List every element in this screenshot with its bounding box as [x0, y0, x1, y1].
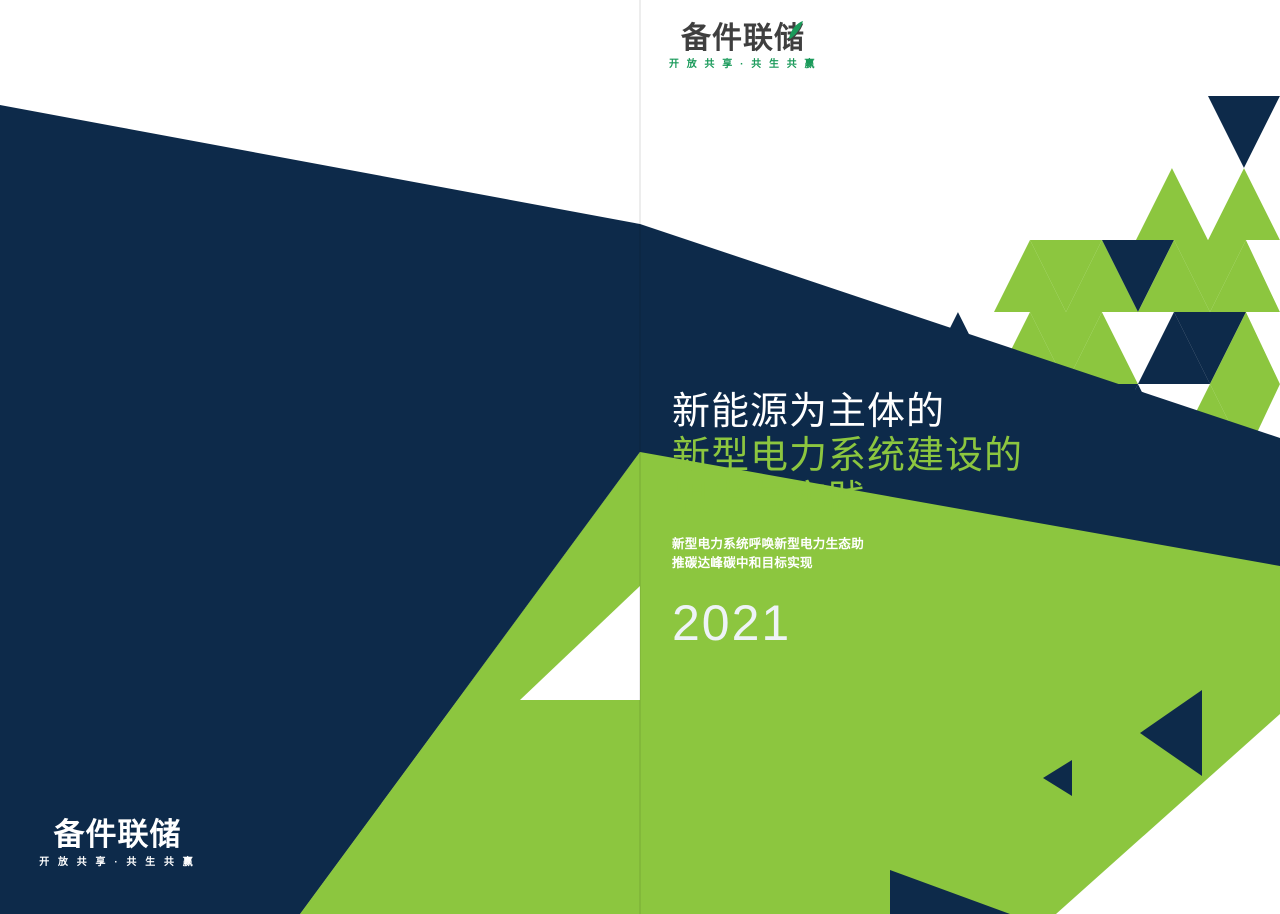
- subtitle: 新型电力系统呼唤新型电力生态助 推碳达峰碳中和目标实现: [672, 534, 1072, 572]
- leaf-icon: [787, 20, 805, 40]
- logo-bottom-tagline: 开 放 共 享 · 共 生 共 赢: [30, 857, 205, 869]
- logo-bottom: 备件联储 开 放 共 享 · 共 生 共 赢: [30, 818, 205, 880]
- logo-bottom-wordmark: 备件联储: [30, 818, 205, 853]
- subtitle-line-1: 新型电力系统呼唤新型电力生态助: [672, 534, 1072, 553]
- spine-fold-line: [639, 0, 641, 914]
- title-line-3: 思考与实践: [672, 477, 1072, 521]
- title-line-1: 新能源为主体的: [672, 389, 1072, 433]
- cover-page: 备件联储 开 放 共 享 · 共 生 共 赢 新能源为主体的 新型电力系统建设的…: [0, 0, 1280, 914]
- logo-top-tagline: 开 放 共 享 · 共 生 共 赢: [663, 59, 823, 71]
- cover-artwork: [0, 0, 1280, 914]
- title-line-2: 新型电力系统建设的: [672, 433, 1072, 477]
- title-block: 新能源为主体的 新型电力系统建设的 思考与实践 新型电力系统呼唤新型电力生态助 …: [672, 389, 1072, 650]
- logo-top: 备件联储 开 放 共 享 · 共 生 共 赢: [663, 22, 823, 78]
- subtitle-line-2: 推碳达峰碳中和目标实现: [672, 553, 1072, 572]
- year-label: 2021: [672, 596, 1072, 650]
